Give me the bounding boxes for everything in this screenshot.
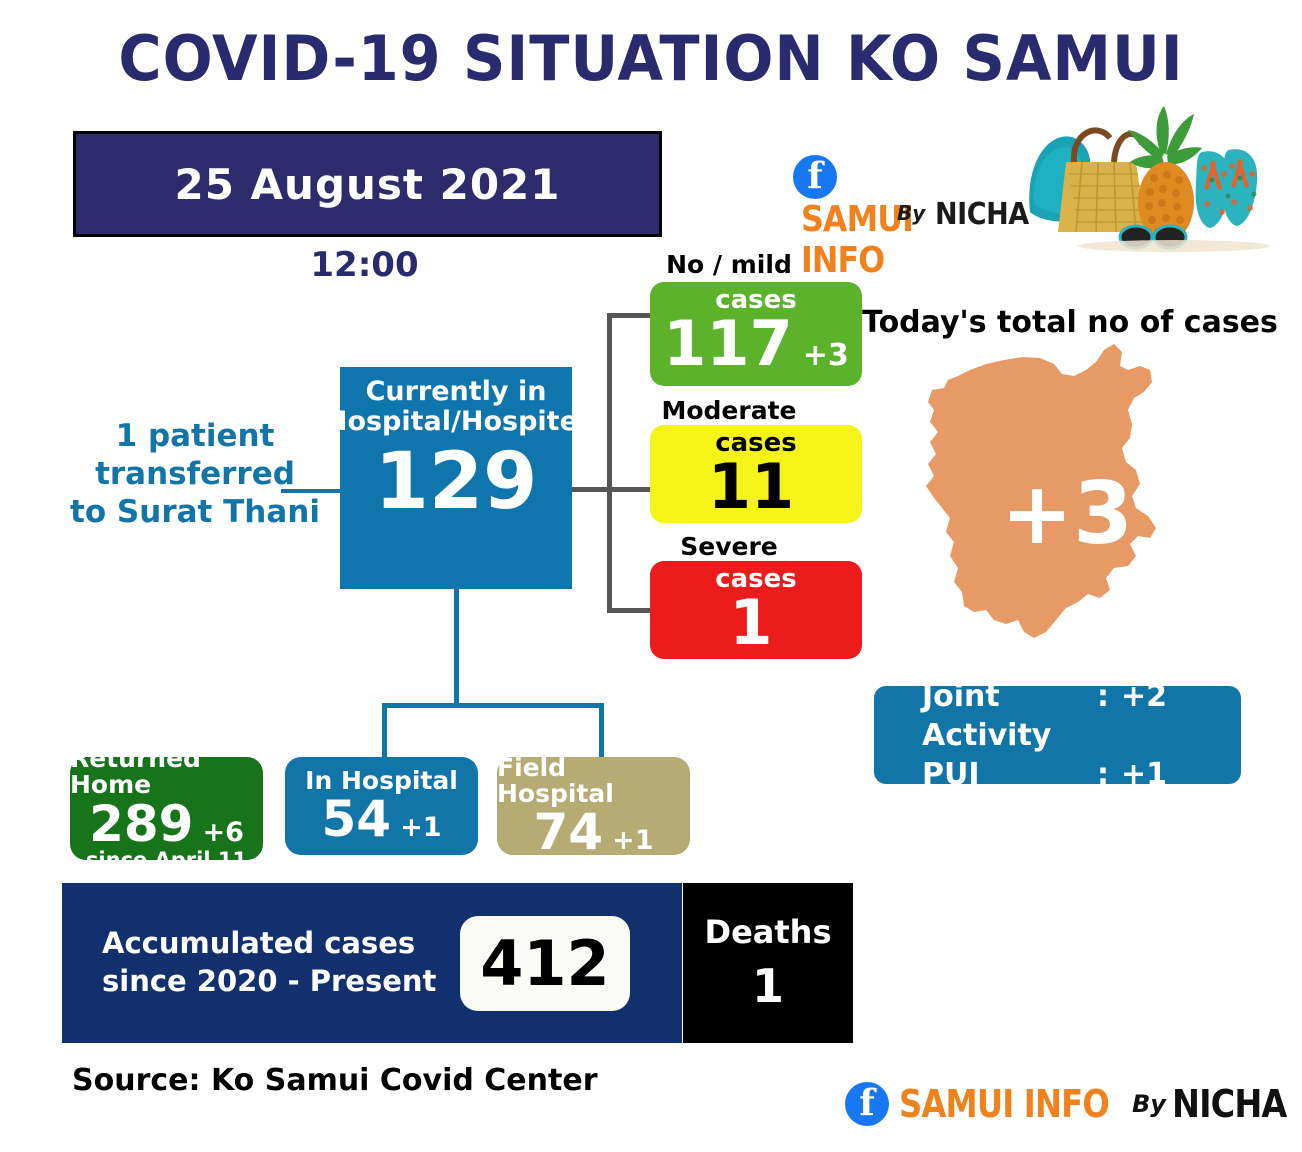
pui-row: PUI : +1 xyxy=(922,755,1241,794)
moderate-title: Moderate xyxy=(623,396,835,425)
field-hospital-label: Field Hospital xyxy=(497,755,690,808)
connector-vertical-main xyxy=(454,589,459,707)
bracket-branch-severe xyxy=(607,608,653,613)
ko-samui-map: +3 xyxy=(900,340,1230,670)
transfer-note: 1 patient transferred to Surat Thani xyxy=(60,418,330,531)
returned-home-value: 289 xyxy=(89,799,193,849)
accumulated-value: 412 xyxy=(480,927,609,1000)
footer-by-label: By xyxy=(1132,1090,1166,1118)
in-hospital-delta: +1 xyxy=(400,812,441,843)
field-hospital-value: 74 xyxy=(533,807,603,857)
in-hospital-value: 54 xyxy=(321,794,391,844)
accumulated-label: Accumulated cases since 2020 - Present xyxy=(102,925,452,1000)
severe-title: Severe xyxy=(623,532,835,561)
brand-by-label: By xyxy=(897,201,925,225)
joint-activity-key: Joint Activity xyxy=(922,677,1097,755)
field-hospital-box: Field Hospital 74 +1 xyxy=(497,757,690,855)
footer-brand-author: NICHA xyxy=(1172,1082,1286,1126)
returned-home-delta: +6 xyxy=(202,817,243,848)
deaths-label: Deaths xyxy=(705,913,832,951)
bracket-stub xyxy=(572,487,612,492)
returned-home-sub: since April 11 xyxy=(86,849,247,871)
connector-vertical-left xyxy=(382,703,387,758)
map-new-cases-value: +3 xyxy=(900,340,1230,670)
joint-activity-row: Joint Activity : +2 xyxy=(922,677,1241,755)
connector-horizontal xyxy=(382,703,604,708)
bracket-branch-mild xyxy=(607,313,653,318)
facebook-icon xyxy=(793,155,837,199)
bracket-branch-moderate xyxy=(607,487,653,492)
hospital-value: 129 xyxy=(375,443,538,521)
in-hospital-box: In Hospital 54 +1 xyxy=(285,757,478,855)
time-text: 12:00 xyxy=(73,245,656,285)
mild-cases-box: cases 117 +3 xyxy=(650,282,862,386)
severe-cases-box: cases 1 xyxy=(650,561,862,659)
connector-vertical-right xyxy=(599,703,604,758)
moderate-cases-box: cases 11 xyxy=(650,425,862,523)
returned-home-box: Returned Home 289 +6 since April 11 xyxy=(70,757,263,860)
joint-activity-colon: : xyxy=(1097,677,1121,755)
beach-items-photo xyxy=(1024,104,1274,252)
header-logo[interactable]: SAMUI INFO By NICHA xyxy=(793,155,1023,247)
deaths-box: Deaths 1 xyxy=(683,883,853,1043)
joint-activity-value: +2 xyxy=(1121,677,1167,755)
transfer-connector-line xyxy=(281,489,343,493)
mild-delta: +3 xyxy=(803,338,849,373)
returned-home-label: Returned Home xyxy=(70,746,263,799)
currently-in-hospital-box: Currently in Hospital/Hospitel 129 xyxy=(340,367,572,589)
severe-value: 1 xyxy=(729,594,772,653)
pui-value: +1 xyxy=(1121,755,1167,794)
field-hospital-delta: +1 xyxy=(612,825,653,856)
todays-total-title: Today's total no of cases xyxy=(860,305,1280,340)
footer-logo[interactable]: SAMUI INFO By NICHA xyxy=(845,1079,1302,1129)
hospital-label: Currently in Hospital/Hospitel xyxy=(325,377,587,437)
accumulated-value-pill: 412 xyxy=(460,916,630,1011)
accumulated-cases-bar: Accumulated cases since 2020 - Present 4… xyxy=(62,883,682,1043)
infographic-canvas: COVID-19 SITUATION KO SAMUI 25 August 20… xyxy=(0,0,1302,1152)
source-text: Source: Ko Samui Covid Center xyxy=(72,1063,598,1098)
pui-key: PUI xyxy=(922,755,1097,794)
footer-brand-name: SAMUI INFO xyxy=(899,1082,1109,1126)
date-text: 25 August 2021 xyxy=(174,160,560,209)
deaths-value: 1 xyxy=(752,959,784,1013)
joint-activity-box: Joint Activity : +2 PUI : +1 xyxy=(874,686,1241,784)
mild-value: 117 xyxy=(663,315,792,374)
pui-colon: : xyxy=(1097,755,1121,794)
date-box: 25 August 2021 xyxy=(73,131,662,237)
facebook-icon xyxy=(845,1082,889,1126)
page-title: COVID-19 SITUATION KO SAMUI xyxy=(33,22,1270,95)
moderate-value: 11 xyxy=(708,458,794,517)
brand-author: NICHA xyxy=(935,197,1029,232)
bracket-vertical xyxy=(607,313,612,613)
